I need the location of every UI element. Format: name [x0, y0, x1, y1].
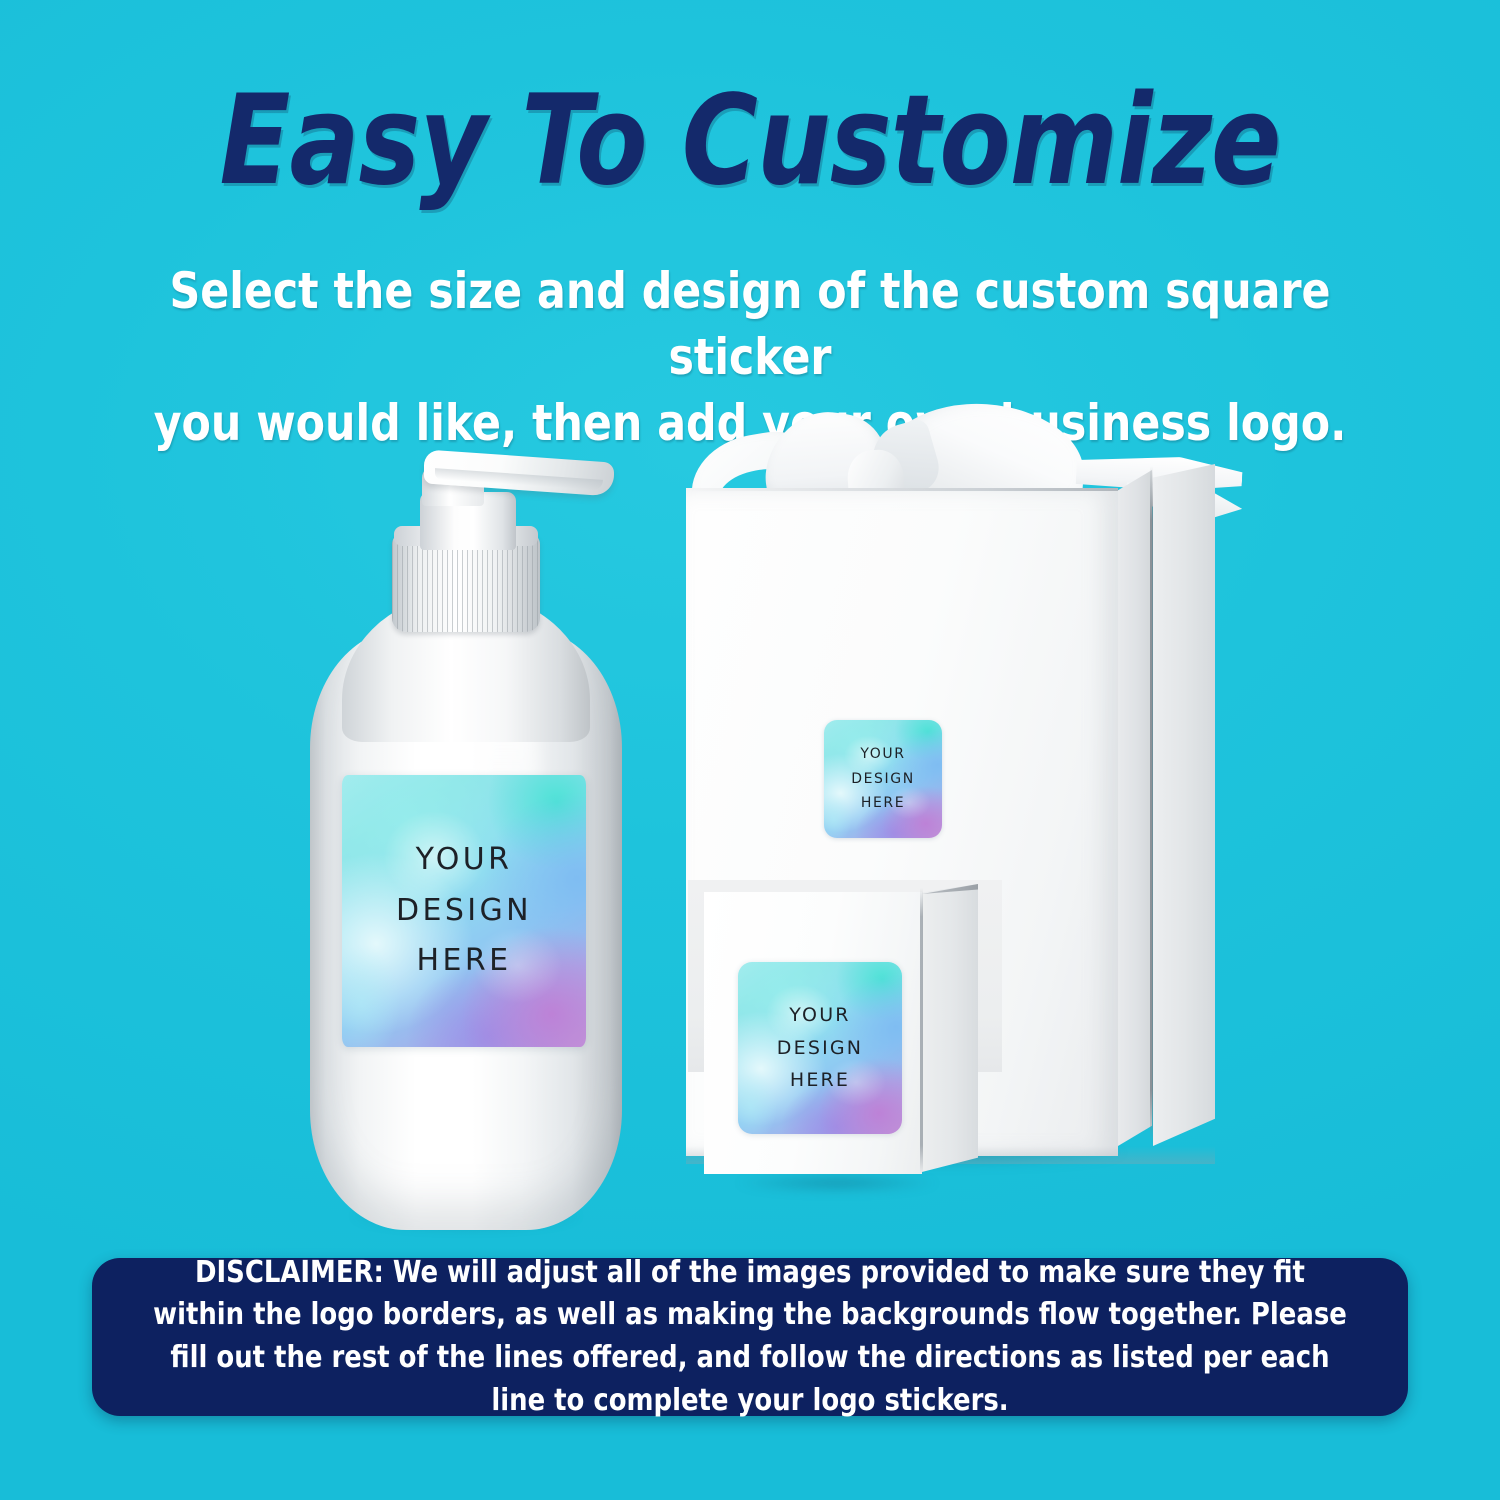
gift-box-sticker: YOUR DESIGN HERE	[824, 720, 942, 838]
disclaimer-banner: DISCLAIMER: We will adjust all of the im…	[92, 1258, 1408, 1416]
subheading-line-1: Select the size and design of the custom…	[142, 258, 1358, 390]
sticker-line-3: HERE	[861, 791, 905, 816]
sticker-line-2: DESIGN	[777, 1032, 863, 1065]
gift-box-sticker-text: YOUR DESIGN HERE	[824, 720, 942, 838]
bottle-sticker-label: YOUR DESIGN HERE	[342, 775, 586, 1047]
sticker-line-2: DESIGN	[396, 886, 532, 936]
product-box-side-panel	[922, 884, 978, 1172]
sticker-line-1: YOUR	[860, 742, 905, 767]
product-box-mockup: YOUR DESIGN HERE	[690, 884, 1010, 1194]
sticker-line-3: HERE	[790, 1064, 850, 1097]
sticker-line-1: YOUR	[416, 835, 513, 885]
disclaimer-text: DISCLAIMER: We will adjust all of the im…	[151, 1252, 1349, 1422]
bottle-sticker-text: YOUR DESIGN HERE	[342, 775, 586, 1047]
gift-box-side-panel-inner	[1118, 470, 1152, 1146]
page-title: Easy To Customize	[53, 78, 1448, 204]
gift-box-lid-edge	[686, 488, 1118, 491]
promo-graphic: Easy To Customize Select the size and de…	[0, 0, 1500, 1500]
gift-box-side-panel-outer	[1153, 464, 1215, 1146]
sticker-line-3: HERE	[417, 936, 512, 986]
gift-box-seam	[1150, 466, 1153, 1144]
product-box-sticker-text: YOUR DESIGN HERE	[738, 962, 902, 1134]
sticker-line-2: DESIGN	[851, 767, 915, 792]
pump-bottle-mockup: YOUR DESIGN HERE	[296, 442, 636, 1232]
disclaimer-lead: DISCLAIMER:	[195, 1255, 384, 1290]
product-box-sticker: YOUR DESIGN HERE	[738, 962, 902, 1134]
product-box-edge	[920, 888, 923, 1174]
sticker-line-1: YOUR	[789, 999, 850, 1032]
